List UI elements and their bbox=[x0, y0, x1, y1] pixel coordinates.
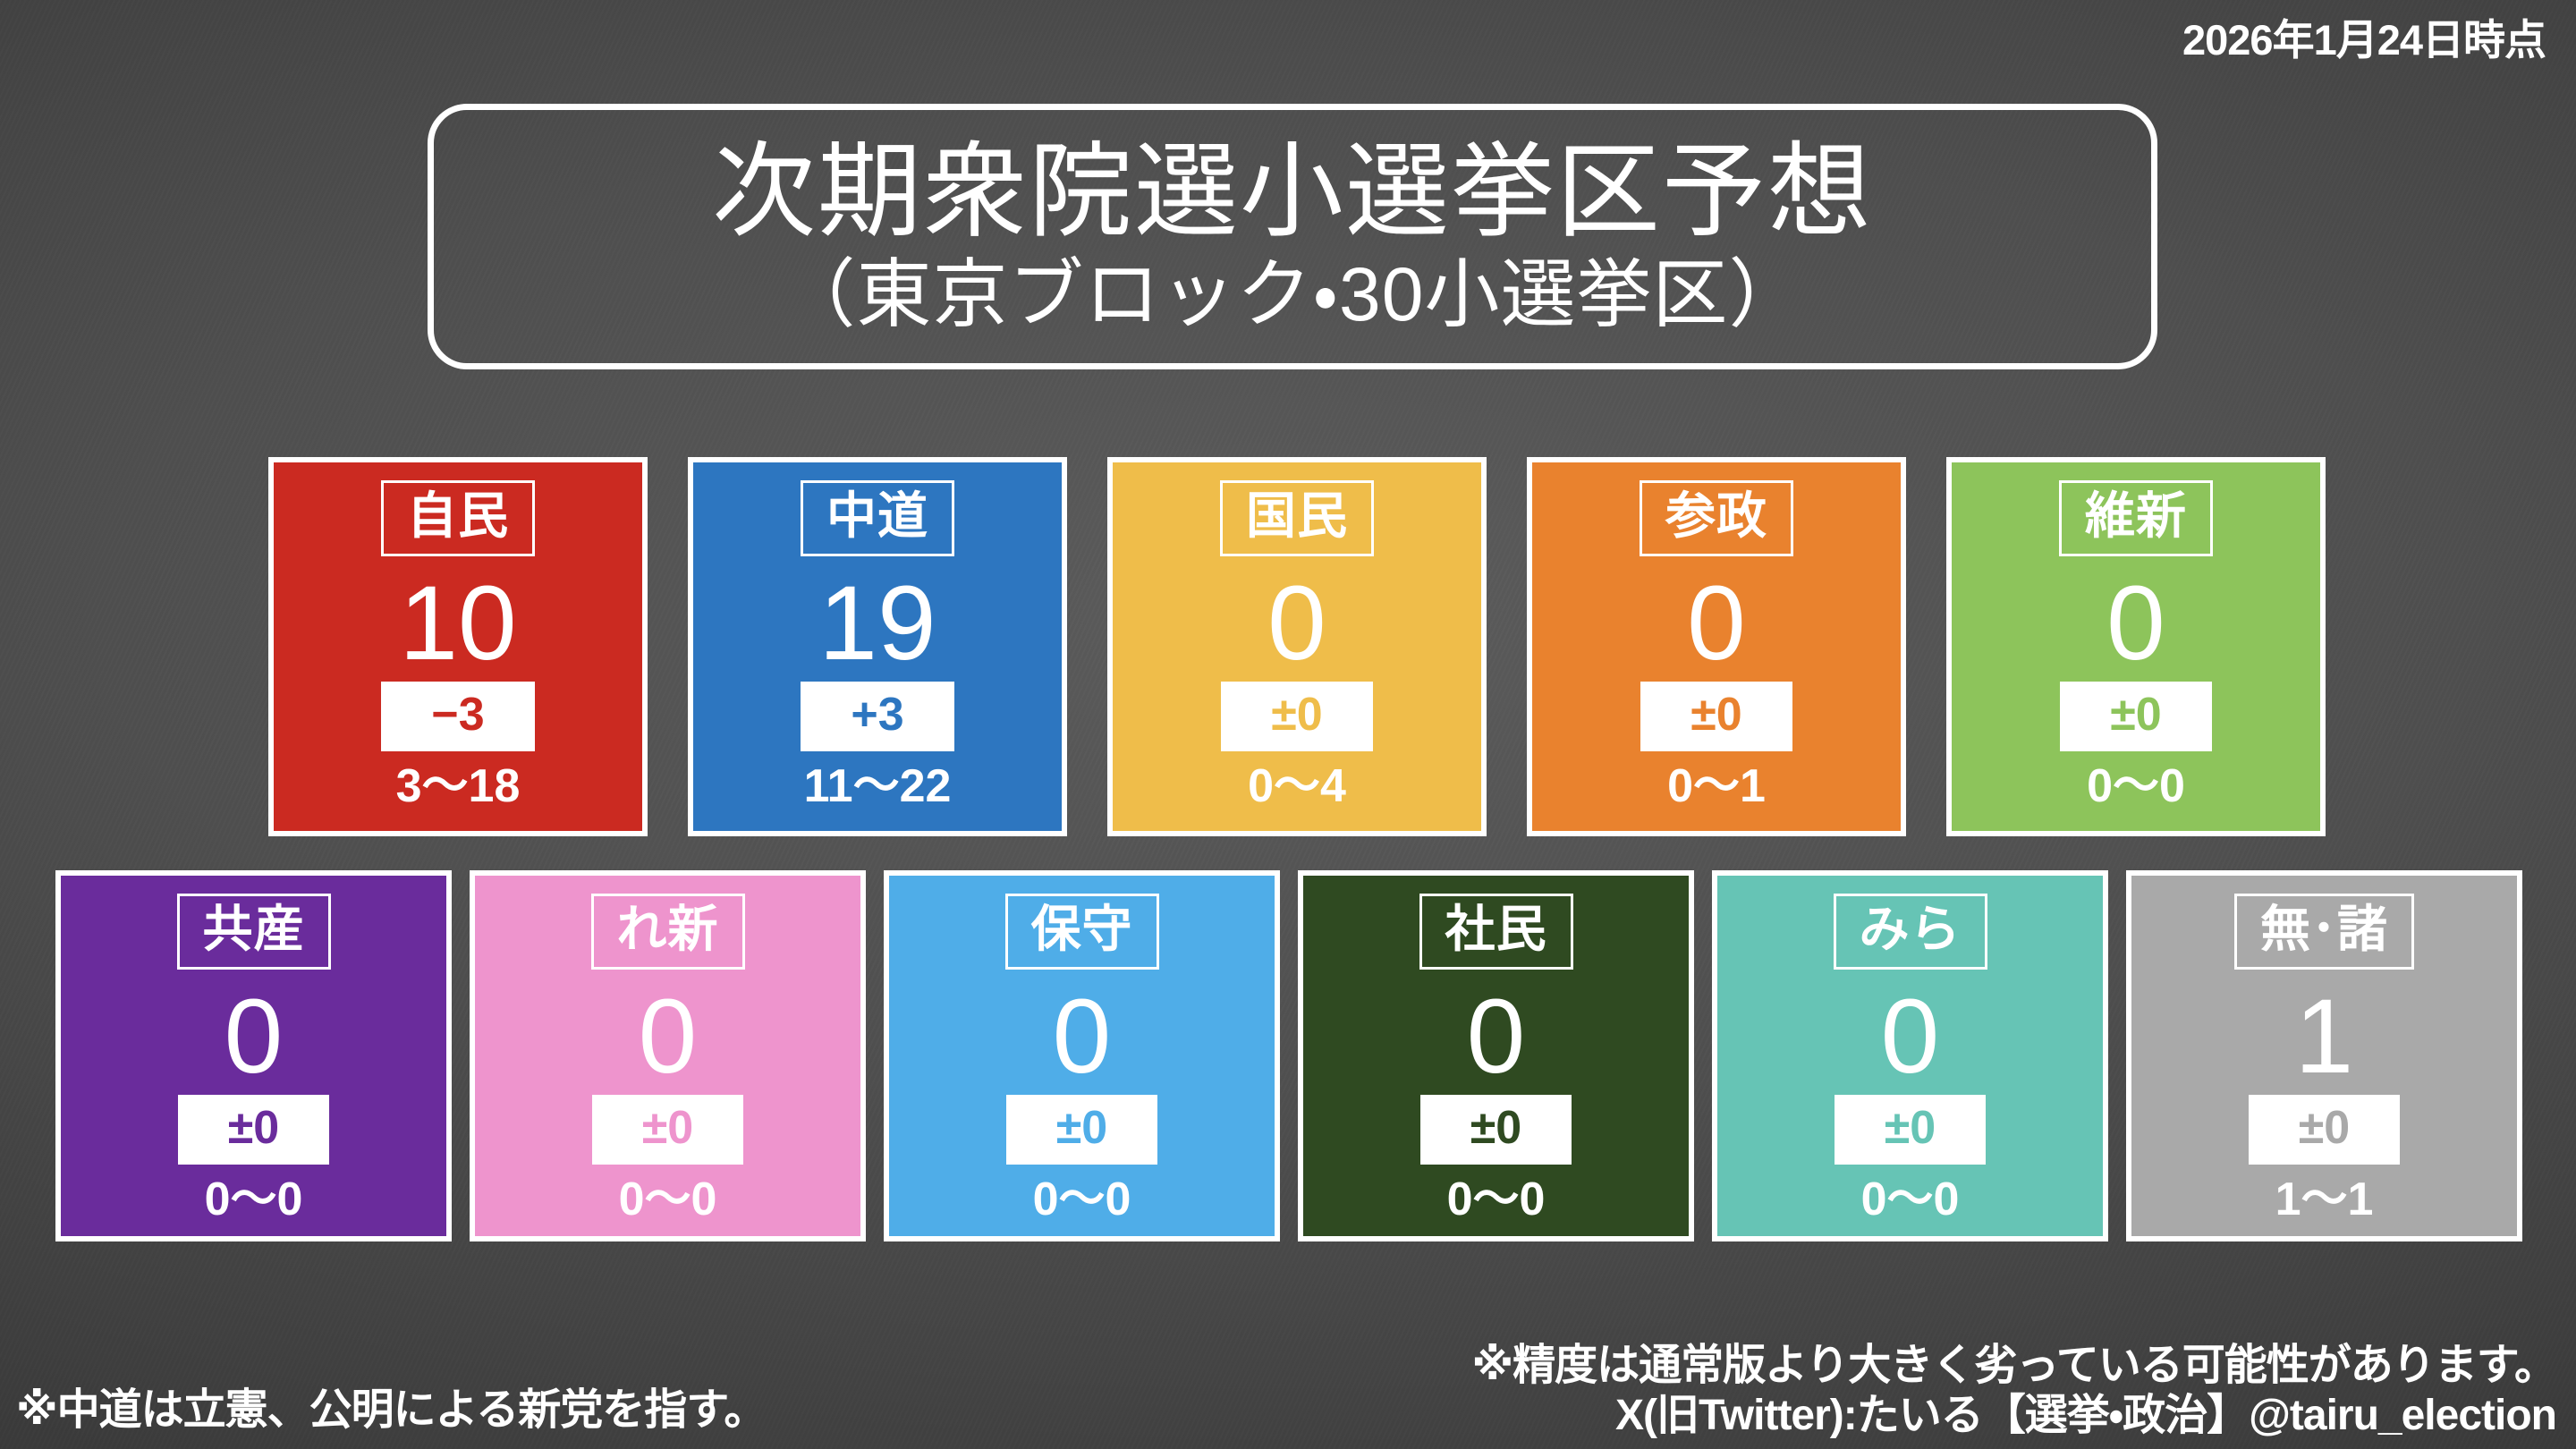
party-seat-count: 0 bbox=[1881, 984, 1940, 1089]
party-seat-count: 0 bbox=[225, 984, 284, 1089]
party-seat-delta: ±0 bbox=[2060, 682, 2211, 751]
party-seat-delta: ±0 bbox=[1640, 682, 1792, 751]
party-seat-count: 0 bbox=[639, 984, 698, 1089]
party-seat-range: 0〜0 bbox=[2087, 763, 2185, 809]
party-seat-range: 0〜0 bbox=[205, 1176, 303, 1223]
party-seat-delta: ±0 bbox=[1420, 1095, 1572, 1165]
party-seat-range: 0〜0 bbox=[1033, 1176, 1131, 1223]
party-name-badge: 参政 bbox=[1640, 480, 1793, 556]
party-card-kyosan: 共産 0 ±0 0〜0 bbox=[55, 870, 452, 1241]
footer-credit-block: ※精度は通常版より大きく劣っている可能性があります。 X(旧Twitter):た… bbox=[1471, 1341, 2556, 1442]
title-box: 次期衆院選小選挙区予想 （東京ブロック・30小選挙区） bbox=[428, 104, 2157, 369]
party-seat-count: 0 bbox=[1267, 571, 1326, 676]
party-seat-range: 0〜1 bbox=[1667, 763, 1766, 809]
party-seat-range: 3〜18 bbox=[396, 763, 521, 809]
author-handle: X(旧Twitter):たいる【選挙・政治】@tairu_election bbox=[1471, 1391, 2556, 1442]
party-card-shamin: 社民 0 ±0 0〜0 bbox=[1298, 870, 1694, 1241]
party-card-row-2: 共産 0 ±0 0〜0 れ新 0 ±0 0〜0 保守 0 ±0 0〜0 社民 0… bbox=[55, 870, 2522, 1241]
party-seat-count: 0 bbox=[1053, 984, 1112, 1089]
page-subtitle: （東京ブロック・30小選挙区） bbox=[781, 252, 1805, 336]
party-card-row-1: 自民 10 −3 3〜18 中道 19 +3 11〜22 国民 0 ±0 0〜4… bbox=[268, 457, 2326, 836]
party-seat-range: 11〜22 bbox=[804, 763, 952, 809]
party-name-badge: れ新 bbox=[591, 894, 745, 970]
party-name-badge: 無･諸 bbox=[2234, 894, 2414, 970]
party-card-mira: みら 0 ±0 0〜0 bbox=[1712, 870, 2108, 1241]
party-seat-count: 1 bbox=[2295, 984, 2354, 1089]
party-card-ishin: 維新 0 ±0 0〜0 bbox=[1946, 457, 2326, 836]
party-seat-count: 0 bbox=[1687, 571, 1746, 676]
party-name-badge: 保守 bbox=[1005, 894, 1159, 970]
party-name-badge: みら bbox=[1834, 894, 1987, 970]
party-name-badge: 共産 bbox=[177, 894, 331, 970]
party-card-jimin: 自民 10 −3 3〜18 bbox=[268, 457, 648, 836]
party-name-badge: 国民 bbox=[1220, 480, 1374, 556]
party-seat-delta: ±0 bbox=[2249, 1095, 2400, 1165]
page-title: 次期衆院選小選挙区予想 bbox=[712, 137, 1873, 247]
party-seat-delta: ±0 bbox=[178, 1095, 329, 1165]
party-name-badge: 維新 bbox=[2059, 480, 2213, 556]
party-seat-range: 0〜0 bbox=[1447, 1176, 1546, 1223]
party-seat-range: 0〜4 bbox=[1248, 763, 1346, 809]
party-card-reishin: れ新 0 ±0 0〜0 bbox=[470, 870, 866, 1241]
party-card-chudo: 中道 19 +3 11〜22 bbox=[688, 457, 1067, 836]
party-seat-delta: ±0 bbox=[592, 1095, 743, 1165]
party-seat-count: 0 bbox=[1467, 984, 1526, 1089]
party-name-badge: 中道 bbox=[801, 480, 954, 556]
party-card-kokumin: 国民 0 ±0 0〜4 bbox=[1107, 457, 1487, 836]
footnote-accuracy: ※精度は通常版より大きく劣っている可能性があります。 bbox=[1471, 1341, 2556, 1392]
party-seat-delta: −3 bbox=[381, 682, 534, 751]
party-seat-range: 1〜1 bbox=[2275, 1176, 2374, 1223]
party-seat-count: 0 bbox=[2106, 571, 2165, 676]
party-seat-range: 0〜0 bbox=[619, 1176, 717, 1223]
footnote-chudo-definition: ※中道は立憲、公明による新党を指す。 bbox=[16, 1374, 766, 1436]
party-seat-count: 19 bbox=[818, 571, 936, 676]
party-name-badge: 自民 bbox=[381, 480, 535, 556]
party-card-mushozoku-shoha: 無･諸 1 ±0 1〜1 bbox=[2126, 870, 2522, 1241]
party-seat-delta: ±0 bbox=[1221, 682, 1372, 751]
party-seat-count: 10 bbox=[399, 571, 516, 676]
party-seat-delta: ±0 bbox=[1006, 1095, 1157, 1165]
date-stamp: 2026年1月24日時点 bbox=[2182, 5, 2546, 67]
party-seat-delta: +3 bbox=[801, 682, 953, 751]
party-name-badge: 社民 bbox=[1419, 894, 1573, 970]
party-seat-range: 0〜0 bbox=[1861, 1176, 1960, 1223]
party-seat-delta: ±0 bbox=[1835, 1095, 1986, 1165]
party-card-hoshu: 保守 0 ±0 0〜0 bbox=[884, 870, 1280, 1241]
party-card-sansei: 参政 0 ±0 0〜1 bbox=[1527, 457, 1906, 836]
